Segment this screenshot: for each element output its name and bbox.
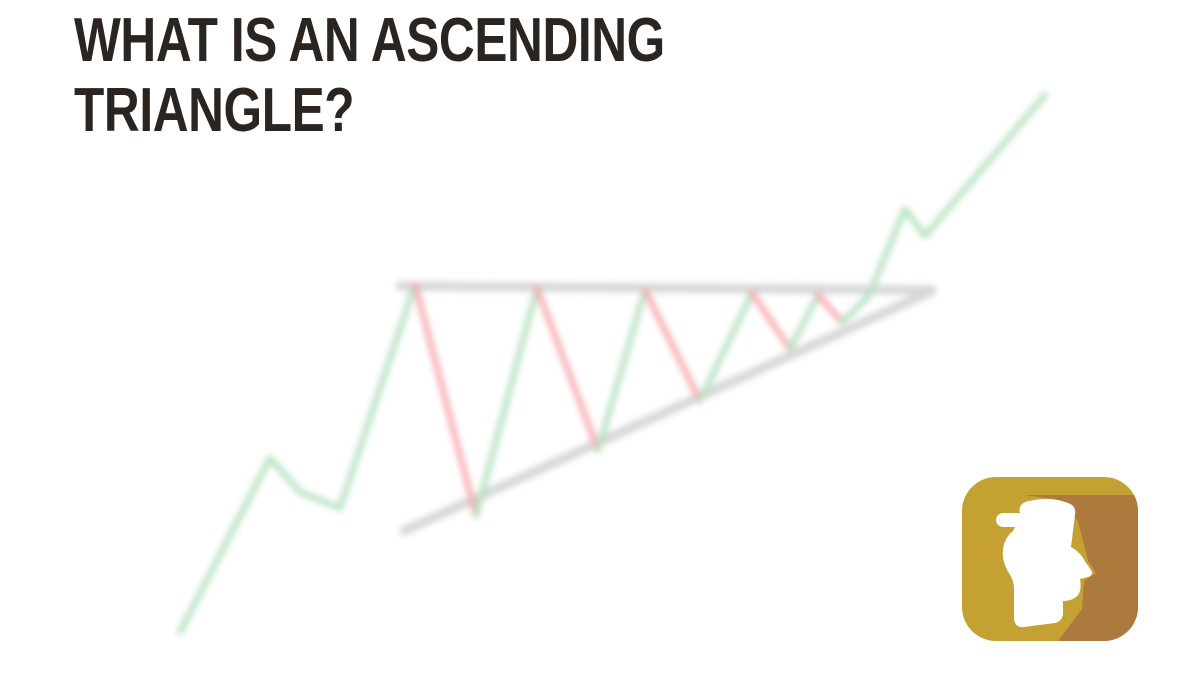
- logo-svg: [962, 477, 1138, 641]
- infographic-canvas: WHAT IS AN ASCENDING TRIANGLE?: [0, 0, 1200, 675]
- chart-price-path: [180, 95, 1045, 632]
- page-title: WHAT IS AN ASCENDING TRIANGLE?: [74, 6, 874, 146]
- page-title-line-1: WHAT IS AN ASCENDING: [74, 6, 714, 76]
- down-leg-2: [537, 288, 598, 450]
- breakout-uptrend-segment: [868, 95, 1045, 297]
- down-leg-5: [818, 295, 842, 322]
- approach-uptrend-segment: [180, 284, 415, 632]
- down-leg-4: [752, 293, 790, 349]
- horizontal-resistance-line: [400, 286, 932, 290]
- down-leg-1: [415, 284, 476, 516]
- page-title-line-2: TRIANGLE?: [74, 76, 714, 146]
- brand-logo[interactable]: [962, 477, 1138, 641]
- down-leg-3: [645, 290, 700, 401]
